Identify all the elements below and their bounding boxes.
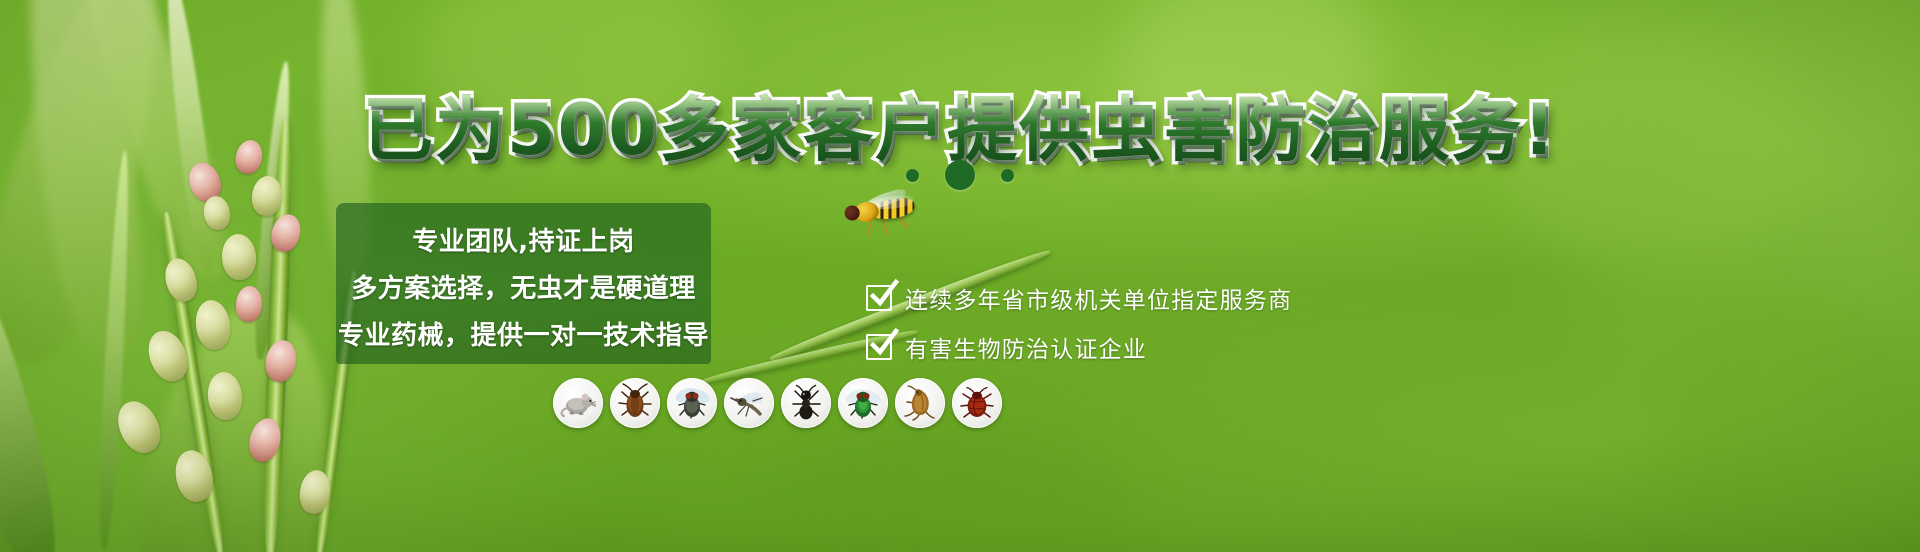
pest-icon-blowfly[interactable] (838, 378, 888, 428)
pest-icon-flea[interactable] (895, 378, 945, 428)
checkbox-checked-icon (866, 334, 892, 360)
blowfly-icon (843, 383, 883, 423)
housefly-icon (672, 383, 712, 423)
headline-dot-divider (0, 160, 1920, 190)
ant-icon (786, 383, 826, 423)
pest-icon-bedbug[interactable] (952, 378, 1002, 428)
flea-icon (900, 383, 940, 423)
rat-icon (558, 383, 598, 423)
pest-type-icon-row (553, 378, 1002, 428)
dot-large-icon (945, 160, 975, 190)
credential-bullet-label: 连续多年省市级机关单位指定服务商 (905, 281, 1292, 315)
dot-small-icon (1001, 169, 1014, 182)
dot-small-icon (906, 169, 919, 182)
cockroach-icon (615, 383, 655, 423)
credential-bullet-list: 连续多年省市级机关单位指定服务商 有害生物防治认证企业 (866, 274, 1486, 371)
checkbox-checked-icon (866, 285, 892, 311)
panel-line-3: 专业药械，提供一对一技术指导 (314, 315, 733, 352)
credential-bullet-item: 连续多年省市级机关单位指定服务商 (866, 274, 1486, 322)
pest-icon-cockroach[interactable] (610, 378, 660, 428)
pest-icon-mosquito[interactable] (724, 378, 774, 428)
pest-icon-ant[interactable] (781, 378, 831, 428)
pest-icon-housefly[interactable] (667, 378, 717, 428)
bedbug-icon (957, 383, 997, 423)
panel-line-1: 专业团队,持证上岗 (336, 221, 711, 258)
promo-banner: 已为500多家客户提供虫害防治服务! 已为500多家客户提供虫害防治服务! 专业… (0, 0, 1920, 552)
panel-line-2: 多方案选择，无虫才是硬道理 (322, 268, 725, 305)
credential-bullet-item: 有害生物防治认证企业 (866, 323, 1486, 371)
credential-bullet-label: 有害生物防治认证企业 (905, 330, 1147, 364)
service-highlights-panel: 专业团队,持证上岗 多方案选择，无虫才是硬道理 专业药械，提供一对一技术指导 (336, 203, 711, 364)
pest-icon-rat[interactable] (553, 378, 603, 428)
mosquito-icon (729, 383, 769, 423)
